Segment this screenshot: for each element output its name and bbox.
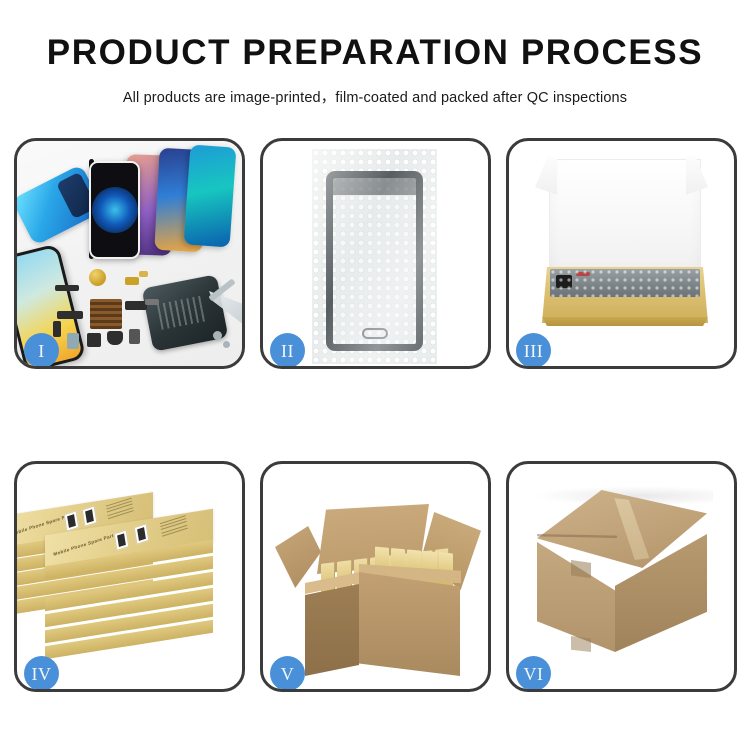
step-panel-1-products: I [14, 138, 245, 369]
header: PRODUCT PREPARATION PROCESS All products… [0, 34, 750, 107]
box-thumb-a [64, 510, 80, 531]
step-3-image [509, 141, 734, 366]
part-vibrator-coil-icon [89, 269, 106, 286]
carton-handle-tab-bottom-icon [571, 636, 591, 652]
process-row-top: I II [14, 138, 736, 369]
step-badge-5: V [270, 656, 305, 691]
step-panel-5-open-carton: V [260, 461, 491, 692]
carton-handle-tab-top-icon [571, 560, 591, 578]
step-panel-3-boxed-screen: III [506, 138, 737, 369]
front-glass-panel-icon [89, 161, 140, 259]
page-title: PRODUCT PREPARATION PROCESS [0, 34, 750, 73]
film-gloss-overlay [312, 149, 437, 364]
box-thumb-d [134, 523, 150, 544]
retail-box-label-2: Mobile Phone Spare Parts [53, 532, 117, 557]
box-thumb-b [82, 505, 98, 526]
carton-flap-left-icon [275, 526, 321, 588]
box-flap-left-icon [535, 155, 557, 195]
white-foam-liner-icon [549, 159, 701, 281]
box-spec-lines [106, 498, 134, 521]
box-front-lip-icon [542, 317, 708, 326]
box-thumb-c [114, 529, 130, 550]
step-2-image [263, 141, 488, 366]
box-flap-right-icon [686, 155, 708, 195]
part-screw-grid-icon [90, 299, 122, 329]
part-connector-icon [55, 285, 79, 291]
step-5-image [263, 464, 488, 689]
carton-right-face-icon [359, 572, 460, 676]
process-row-bottom: Mobile Phone Spare Parts [14, 461, 736, 692]
part-small-gold-icon [139, 271, 148, 277]
part-camera-icon [87, 333, 101, 347]
box-spec-lines-2 [160, 515, 188, 538]
part-gold-clip-icon [125, 277, 139, 285]
step-badge-3: III [516, 333, 551, 368]
carton-front-face-icon [305, 584, 359, 676]
part-screw-b-icon [223, 341, 230, 348]
step-panel-2-bubble-wrap: II [260, 138, 491, 369]
part-ribbon-icon [125, 301, 147, 310]
part-button-icon [129, 329, 140, 344]
step-badge-1: I [24, 333, 59, 368]
part-flex-cable-icon [57, 311, 83, 319]
screen-in-box-icon [550, 269, 700, 297]
part-speaker-icon [107, 331, 123, 345]
step-6-image [509, 464, 734, 689]
step-badge-2: II [270, 333, 305, 368]
part-screw-a-icon [213, 331, 222, 340]
product-preparation-infographic: PRODUCT PREPARATION PROCESS All products… [0, 0, 750, 750]
sealed-carton-left-face-icon [537, 542, 615, 652]
step-4-image: Mobile Phone Spare Parts [17, 464, 242, 689]
step-badge-6: VI [516, 656, 551, 691]
screen-chip-icon [556, 275, 572, 288]
phone-teal-icon [184, 145, 237, 248]
step-1-image [17, 141, 242, 366]
part-sim-tray-icon [67, 333, 79, 349]
bubble-wrap-sheet-icon [312, 149, 437, 364]
screen-red-marking-icon [576, 272, 590, 276]
part-bracket-icon [53, 321, 61, 337]
page-subtitle: All products are image-printed，film-coat… [0, 86, 750, 107]
part-shield-icon [145, 299, 159, 305]
step-panel-6-sealed-carton: VI [506, 461, 737, 692]
process-steps-grid: I II [14, 138, 736, 692]
step-badge-4: IV [24, 656, 59, 691]
step-panel-4-box-stack: Mobile Phone Spare Parts [14, 461, 245, 692]
